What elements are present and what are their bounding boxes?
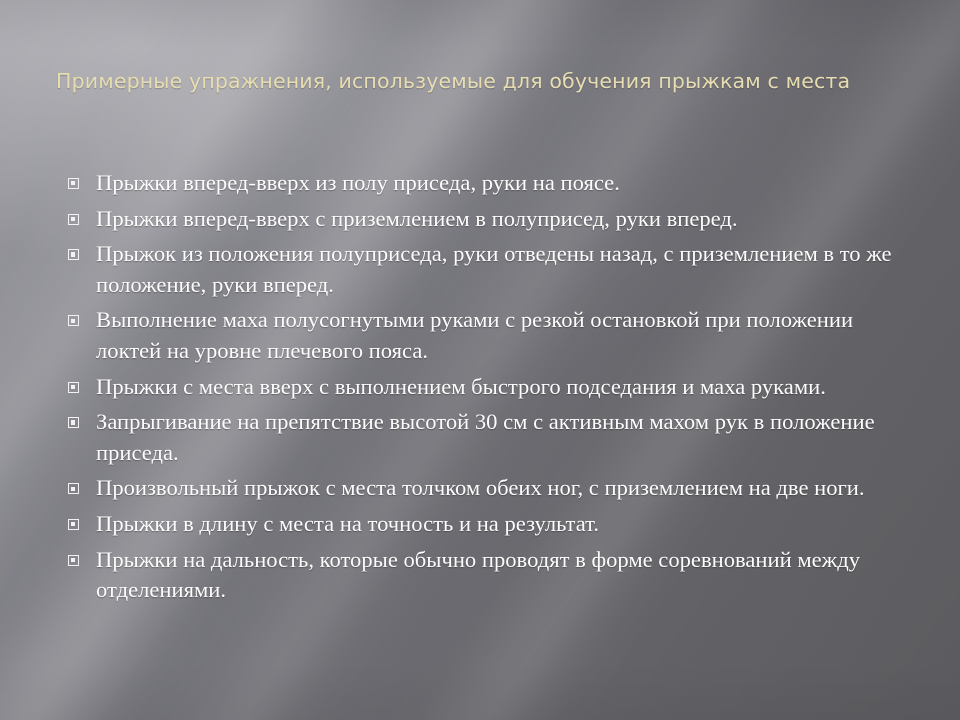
- list-item-text: Прыжок из положения полуприседа, руки от…: [96, 239, 892, 300]
- list-item-text: Прыжки на дальность, которые обычно пров…: [96, 545, 892, 606]
- list-item-text: Прыжки в длину с места на точность и на …: [96, 509, 892, 540]
- square-bullet-icon: [68, 249, 79, 260]
- bullet-list: Прыжки вперед-вверх из полу приседа, рук…: [62, 168, 892, 611]
- list-item-text: Прыжки вперед-вверх с приземлением в пол…: [96, 204, 892, 235]
- square-bullet-icon: [68, 417, 79, 428]
- square-bullet-icon: [68, 555, 79, 566]
- list-item: Произвольный прыжок с места толчком обеи…: [62, 473, 892, 504]
- list-item-text: Прыжки вперед-вверх из полу приседа, рук…: [96, 168, 892, 199]
- list-item-text: Запрыгивание на препятствие высотой 30 с…: [96, 407, 892, 468]
- square-bullet-icon: [68, 382, 79, 393]
- square-bullet-icon: [68, 214, 79, 225]
- square-bullet-icon: [68, 315, 79, 326]
- list-item: Прыжки с места вверх с выполнением быстр…: [62, 372, 892, 403]
- list-item-text: Произвольный прыжок с места толчком обеи…: [96, 473, 892, 504]
- list-item-text: Выполнение маха полусогнутыми руками с р…: [96, 305, 892, 366]
- slide-title: Примерные упражнения, используемые для о…: [56, 68, 926, 94]
- square-bullet-icon: [68, 519, 79, 530]
- slide-content: Примерные упражнения, используемые для о…: [0, 0, 960, 720]
- list-item-text: Прыжки с места вверх с выполнением быстр…: [96, 372, 892, 403]
- square-bullet-icon: [68, 178, 79, 189]
- list-item: Выполнение маха полусогнутыми руками с р…: [62, 305, 892, 366]
- list-item: Прыжки в длину с места на точность и на …: [62, 509, 892, 540]
- list-item: Прыжки вперед-вверх с приземлением в пол…: [62, 204, 892, 235]
- list-item: Прыжки вперед-вверх из полу приседа, рук…: [62, 168, 892, 199]
- square-bullet-icon: [68, 483, 79, 494]
- presentation-slide: Примерные упражнения, используемые для о…: [0, 0, 960, 720]
- list-item: Запрыгивание на препятствие высотой 30 с…: [62, 407, 892, 468]
- list-item: Прыжок из положения полуприседа, руки от…: [62, 239, 892, 300]
- list-item: Прыжки на дальность, которые обычно пров…: [62, 545, 892, 606]
